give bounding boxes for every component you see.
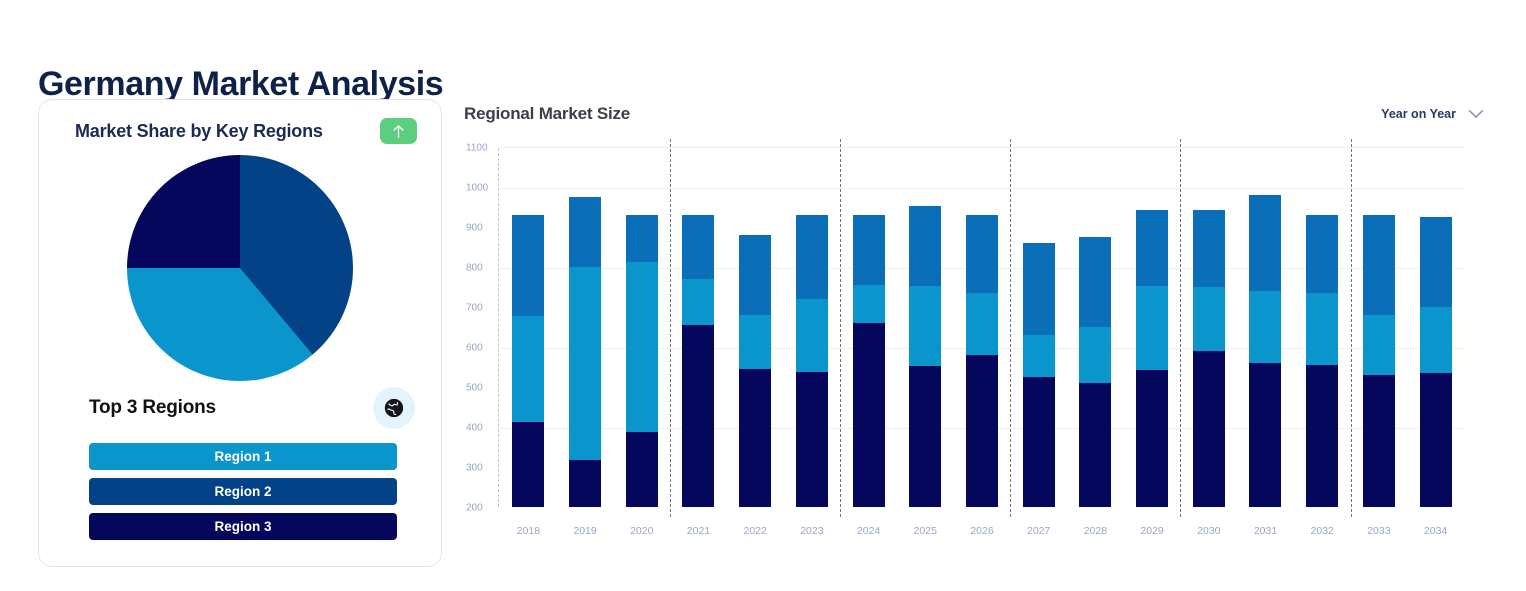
x-axis-label: 2025 — [897, 525, 954, 537]
x-axis-label: 2023 — [784, 525, 841, 537]
x-axis-label: 2030 — [1180, 525, 1237, 537]
stacked-bar[interactable] — [1193, 210, 1225, 507]
bar-segment — [626, 262, 658, 432]
bar-segment — [512, 316, 544, 422]
y-axis-tick: 800 — [466, 263, 496, 274]
top-regions-title: Top 3 Regions — [89, 397, 216, 419]
y-axis-tick: 300 — [466, 463, 496, 474]
stacked-bar[interactable] — [909, 206, 941, 507]
bar-segment — [682, 279, 714, 325]
chevron-down-icon — [1468, 109, 1484, 119]
bar-segment — [853, 285, 885, 323]
bar-column[interactable] — [613, 148, 670, 507]
bar-segment — [1363, 315, 1395, 375]
bar-column[interactable] — [1294, 148, 1351, 507]
x-axis-label: 2024 — [840, 525, 897, 537]
bar-segment — [626, 215, 658, 262]
stacked-bar[interactable] — [739, 235, 771, 507]
stacked-bar[interactable] — [966, 215, 998, 507]
arrow-up-icon — [392, 124, 405, 139]
x-axis-label: 2029 — [1124, 525, 1181, 537]
chart-area: 20030040050060070080090010001100 2018201… — [464, 147, 1484, 557]
stacked-bar[interactable] — [512, 215, 544, 507]
y-axis-tick: 400 — [466, 423, 496, 434]
bar-column[interactable] — [1237, 148, 1294, 507]
market-share-pie-chart[interactable] — [127, 155, 353, 381]
bar-segment — [796, 299, 828, 372]
region-list: Region 1Region 2Region 3 — [39, 443, 441, 540]
bar-segment — [512, 215, 544, 316]
bar-segment — [1079, 237, 1111, 327]
region-bar-3[interactable]: Region 3 — [89, 513, 397, 540]
stacked-bar[interactable] — [796, 215, 828, 507]
stacked-bar[interactable] — [853, 215, 885, 507]
bar-segment — [1363, 215, 1395, 315]
bar-segment — [1023, 377, 1055, 507]
bar-segment — [569, 460, 601, 507]
bar-segment — [1136, 210, 1168, 286]
card-header: Market Share by Key Regions — [39, 100, 441, 144]
bar-segment — [1193, 210, 1225, 287]
x-axis-label: 2032 — [1294, 525, 1351, 537]
year-on-year-label: Year on Year — [1381, 107, 1456, 121]
bar-column[interactable] — [1180, 148, 1237, 507]
bar-column[interactable] — [670, 148, 727, 507]
bar-column[interactable] — [897, 148, 954, 507]
bar-segment — [909, 206, 941, 286]
y-axis-tick: 200 — [466, 503, 496, 514]
year-on-year-dropdown[interactable]: Year on Year — [1381, 107, 1484, 121]
x-axis-label: 2026 — [954, 525, 1011, 537]
bar-segment — [853, 323, 885, 507]
vertical-divider — [1180, 139, 1181, 517]
bar-segment — [1363, 375, 1395, 507]
x-axis-label: 2022 — [727, 525, 784, 537]
bar-segment — [1306, 215, 1338, 293]
y-axis-tick: 1000 — [466, 183, 496, 194]
page-title: Germany Market Analysis — [38, 65, 443, 104]
bar-segment — [909, 286, 941, 366]
y-axis-tick: 700 — [466, 303, 496, 314]
regional-market-size-panel: Regional Market Size Year on Year 200300… — [464, 99, 1484, 569]
vertical-divider — [840, 139, 841, 517]
bar-segment — [739, 315, 771, 369]
bar-segment — [1136, 286, 1168, 370]
bar-segment — [1249, 195, 1281, 291]
bar-group — [500, 148, 1464, 507]
bar-column[interactable] — [727, 148, 784, 507]
stacked-bar[interactable] — [682, 215, 714, 507]
bar-segment — [966, 293, 998, 355]
y-axis-tick: 1100 — [466, 143, 496, 154]
x-axis-label: 2018 — [500, 525, 557, 537]
market-share-card: Market Share by Key Regions Top 3 Region… — [38, 99, 442, 567]
bar-column[interactable] — [557, 148, 614, 507]
stacked-bar[interactable] — [1079, 237, 1111, 507]
bar-segment — [966, 215, 998, 293]
pie-chart-wrap — [39, 160, 441, 375]
bar-column[interactable] — [1010, 148, 1067, 507]
bar-column[interactable] — [1124, 148, 1181, 507]
x-axis-label: 2034 — [1407, 525, 1464, 537]
bar-segment — [1193, 351, 1225, 507]
x-axis-label: 2019 — [557, 525, 614, 537]
x-axis-label: 2028 — [1067, 525, 1124, 537]
stacked-bar-chart[interactable]: 20030040050060070080090010001100 — [500, 147, 1464, 507]
bar-segment — [796, 215, 828, 299]
bar-column[interactable] — [840, 148, 897, 507]
top-regions-row: Top 3 Regions — [39, 387, 441, 429]
x-axis-label: 2033 — [1351, 525, 1408, 537]
bar-segment — [1420, 373, 1452, 507]
bar-segment — [682, 325, 714, 507]
bar-segment — [966, 355, 998, 507]
bar-segment — [1306, 365, 1338, 507]
bar-segment — [1079, 383, 1111, 507]
bar-segment — [739, 369, 771, 507]
stacked-bar[interactable] — [1306, 215, 1338, 507]
bar-segment — [1193, 287, 1225, 351]
bar-segment — [569, 267, 601, 460]
x-axis-label: 2031 — [1237, 525, 1294, 537]
region-label: Region 1 — [214, 449, 271, 464]
bar-segment — [1249, 363, 1281, 507]
bar-segment — [1306, 293, 1338, 365]
x-axis-labels: 2018201920202021202220232024202520262027… — [500, 525, 1464, 537]
stacked-bar[interactable] — [1363, 215, 1395, 507]
x-axis-label: 2020 — [613, 525, 670, 537]
stacked-bar[interactable] — [626, 215, 658, 507]
region-bar-1[interactable]: Region 1 — [89, 443, 397, 470]
vertical-divider — [1010, 139, 1011, 517]
bar-segment — [1420, 217, 1452, 307]
y-axis-dashed-line — [498, 148, 499, 507]
stacked-bar[interactable] — [1023, 243, 1055, 507]
bar-segment — [1249, 291, 1281, 363]
bar-column[interactable] — [500, 148, 557, 507]
stacked-bar[interactable] — [1420, 217, 1452, 507]
bar-column[interactable] — [784, 148, 841, 507]
bar-column[interactable] — [1351, 148, 1408, 507]
bar-segment — [512, 422, 544, 507]
x-axis-label: 2021 — [670, 525, 727, 537]
bar-segment — [739, 235, 771, 315]
panel-header: Regional Market Size Year on Year — [464, 99, 1484, 129]
x-axis-label: 2027 — [1010, 525, 1067, 537]
region-label: Region 3 — [214, 519, 271, 534]
bar-column[interactable] — [1067, 148, 1124, 507]
card-title: Market Share by Key Regions — [75, 121, 323, 142]
bar-segment — [569, 197, 601, 267]
panel-title: Regional Market Size — [464, 104, 630, 124]
bar-segment — [1136, 370, 1168, 507]
bar-column[interactable] — [954, 148, 1011, 507]
globe-icon — [383, 397, 405, 419]
bar-column[interactable] — [1407, 148, 1464, 507]
bar-segment — [796, 372, 828, 507]
y-axis-tick: 600 — [466, 343, 496, 354]
region-bar-2[interactable]: Region 2 — [89, 478, 397, 505]
bar-segment — [1023, 243, 1055, 335]
vertical-divider — [670, 139, 671, 517]
arrow-up-button[interactable] — [380, 118, 417, 144]
y-axis-tick: 900 — [466, 223, 496, 234]
bar-segment — [1420, 307, 1452, 373]
stacked-bar[interactable] — [1249, 195, 1281, 507]
stacked-bar[interactable] — [569, 197, 601, 507]
bar-segment — [1079, 327, 1111, 383]
y-axis-tick: 500 — [466, 383, 496, 394]
bar-segment — [626, 432, 658, 507]
globe-button[interactable] — [373, 387, 415, 429]
region-label: Region 2 — [214, 484, 271, 499]
bar-segment — [853, 215, 885, 285]
bar-segment — [682, 215, 714, 279]
vertical-divider — [1351, 139, 1352, 517]
stacked-bar[interactable] — [1136, 210, 1168, 507]
bar-segment — [909, 366, 941, 507]
bar-segment — [1023, 335, 1055, 377]
